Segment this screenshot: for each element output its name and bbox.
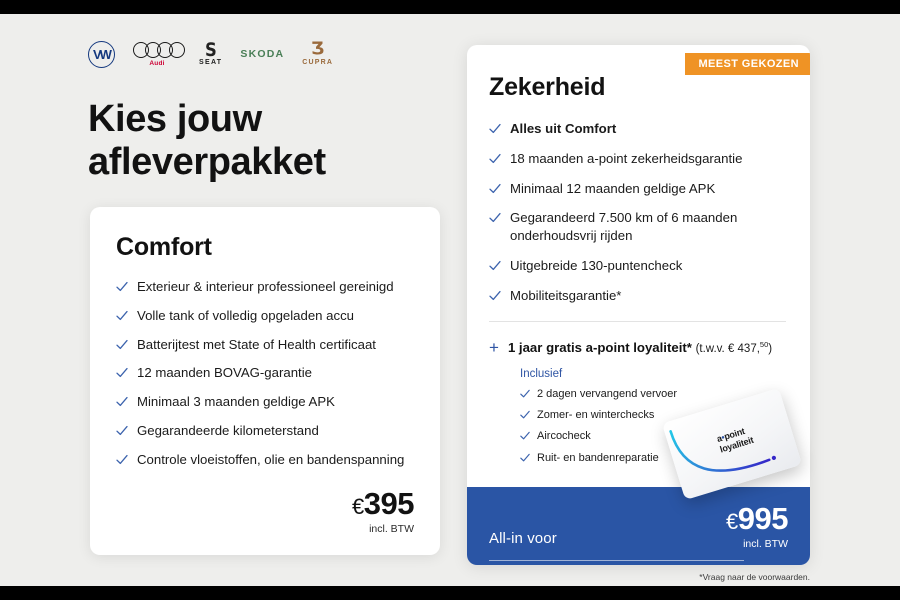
cupra-logo-label: CUPRA — [302, 59, 333, 66]
letterbox-top — [0, 0, 900, 14]
skoda-logo-label: SKODA — [240, 48, 284, 60]
letterbox-bottom — [0, 586, 900, 600]
comfort-price-block: €395 incl. BTW — [352, 488, 414, 535]
list-item-label: Alles uit Comfort — [510, 120, 616, 138]
audi-ring-4 — [169, 42, 185, 58]
zekerheid-package-card[interactable]: MEEST GEKOZEN Zekerheid Alles uit Comfor… — [467, 45, 810, 565]
list-item: Uitgebreide 130-puntencheck — [489, 257, 788, 275]
seat-logo: S SEAT — [199, 42, 222, 66]
check-icon — [489, 212, 501, 224]
zekerheid-price-block: €995 incl. BTW — [726, 503, 788, 550]
list-item-label: 18 maanden a-point zekerheidsgarantie — [510, 150, 742, 168]
list-item: Minimaal 3 maanden geldige APK — [116, 393, 414, 411]
check-icon — [489, 153, 501, 165]
check-icon — [116, 339, 128, 351]
list-item: Exterieur & interieur professioneel gere… — [116, 278, 414, 296]
check-icon — [489, 183, 501, 195]
list-item-label: Uitgebreide 130-puntencheck — [510, 257, 682, 275]
loyalty-value-prefix: (t.w.v. € 437, — [696, 343, 760, 355]
list-item-label: Ruit- en bandenreparatie — [537, 451, 659, 465]
check-icon — [520, 389, 530, 399]
check-icon — [520, 431, 530, 441]
cupra-logo: Ʒ CUPRA — [302, 42, 333, 65]
currency-symbol: € — [726, 509, 738, 534]
list-item-label: Volle tank of volledig opgeladen accu — [137, 307, 354, 325]
zekerheid-price-row: All-in voor €995 incl. BTW — [489, 503, 788, 550]
check-icon — [520, 453, 530, 463]
list-item: 18 maanden a-point zekerheidsgarantie — [489, 150, 788, 168]
comfort-price: €395 — [352, 488, 414, 519]
comfort-feature-list: Exterieur & interieur professioneel gere… — [116, 278, 414, 469]
list-item: Minimaal 12 maanden geldige APK — [489, 180, 788, 198]
list-item: Alles uit Comfort — [489, 120, 788, 138]
list-item-label: Gegarandeerd 7.500 km of 6 maanden onder… — [510, 209, 788, 245]
list-item-label: Batterijtest met State of Health certifi… — [137, 336, 376, 354]
disclaimer-text: *Vraag naar de voorwaarden. — [699, 572, 810, 582]
check-icon — [489, 260, 501, 272]
comfort-price-value: 395 — [364, 486, 414, 521]
brand-logo-strip: VW Audi S SEAT SKODA Ʒ CUPRA — [88, 38, 333, 70]
list-item-label: Aircocheck — [537, 429, 591, 443]
currency-symbol: € — [352, 494, 364, 519]
skoda-logo: SKODA — [240, 48, 284, 60]
seat-icon: S — [205, 42, 217, 58]
list-item: Controle vloeistoffen, olie en bandenspa… — [116, 451, 414, 469]
check-icon — [116, 310, 128, 322]
check-icon — [116, 425, 128, 437]
plus-icon: + — [489, 339, 499, 356]
audi-logo: Audi — [133, 42, 181, 67]
list-item: 12 maanden BOVAG-garantie — [116, 364, 414, 382]
list-item: Gegarandeerde kilometerstand — [116, 422, 414, 440]
volkswagen-logo-label: VW — [93, 48, 110, 61]
loyalty-addon-value: (t.w.v. € 437,50) — [696, 343, 773, 355]
check-icon — [520, 410, 530, 420]
cupra-icon: Ʒ — [311, 42, 324, 57]
volkswagen-icon: VW — [88, 41, 115, 68]
list-item-label: 12 maanden BOVAG-garantie — [137, 364, 312, 382]
list-item-label: Mobiliteitsgarantie* — [510, 287, 621, 305]
list-item: Gegarandeerd 7.500 km of 6 maanden onder… — [489, 209, 788, 245]
zekerheid-feature-list: Alles uit Comfort 18 maanden a-point zek… — [489, 120, 788, 305]
zekerheid-price: €995 — [726, 503, 788, 534]
list-item: Mobiliteitsgarantie* — [489, 287, 788, 305]
check-icon — [489, 123, 501, 135]
volkswagen-logo: VW — [88, 41, 115, 68]
comfort-card-title: Comfort — [116, 233, 414, 262]
list-item: Batterijtest met State of Health certifi… — [116, 336, 414, 354]
comfort-vat-note: incl. BTW — [352, 523, 414, 535]
loyalty-addon-label: 1 jaar gratis a-point loyaliteit* — [508, 340, 692, 355]
list-item: Volle tank of volledig opgeladen accu — [116, 307, 414, 325]
check-icon — [489, 290, 501, 302]
footer-rule — [489, 560, 744, 561]
zekerheid-price-value: 995 — [738, 501, 788, 536]
audi-icon — [133, 42, 181, 58]
list-item-label: Minimaal 3 maanden geldige APK — [137, 393, 335, 411]
divider — [489, 321, 786, 322]
comfort-package-card[interactable]: Comfort Exterieur & interieur profession… — [90, 207, 440, 555]
loyalty-value-suffix: ) — [768, 343, 772, 355]
audi-logo-label: Audi — [149, 60, 164, 67]
page-title: Kies jouw afleverpakket — [88, 98, 448, 183]
poster-canvas: VW Audi S SEAT SKODA Ʒ CUPRA Kies jouw — [0, 0, 900, 600]
check-icon — [116, 367, 128, 379]
loyalty-addon-row: + 1 jaar gratis a-point loyaliteit* (t.w… — [489, 340, 788, 356]
check-icon — [116, 454, 128, 466]
check-icon — [116, 396, 128, 408]
list-item-label: Minimaal 12 maanden geldige APK — [510, 180, 715, 198]
check-icon — [116, 281, 128, 293]
included-heading: Inclusief — [520, 368, 788, 380]
zekerheid-card-title: Zekerheid — [489, 73, 788, 102]
list-item-label: Gegarandeerde kilometerstand — [137, 422, 319, 440]
zekerheid-vat-note: incl. BTW — [726, 538, 788, 550]
zekerheid-price-footer: All-in voor €995 incl. BTW — [467, 487, 810, 565]
list-item-label: Zomer- en winterchecks — [537, 408, 654, 422]
list-item-label: 2 dagen vervangend vervoer — [537, 387, 677, 401]
all-in-label: All-in voor — [489, 530, 557, 550]
page-title-line-2: afleverpakket — [88, 141, 448, 184]
loyalty-value-cents: 50 — [760, 340, 768, 349]
page-title-line-1: Kies jouw — [88, 98, 448, 141]
status-badge: MEEST GEKOZEN — [685, 53, 810, 75]
list-item-label: Controle vloeistoffen, olie en bandenspa… — [137, 451, 404, 469]
list-item-label: Exterieur & interieur professioneel gere… — [137, 278, 394, 296]
loyalty-addon-text: 1 jaar gratis a-point loyaliteit* (t.w.v… — [508, 340, 772, 355]
